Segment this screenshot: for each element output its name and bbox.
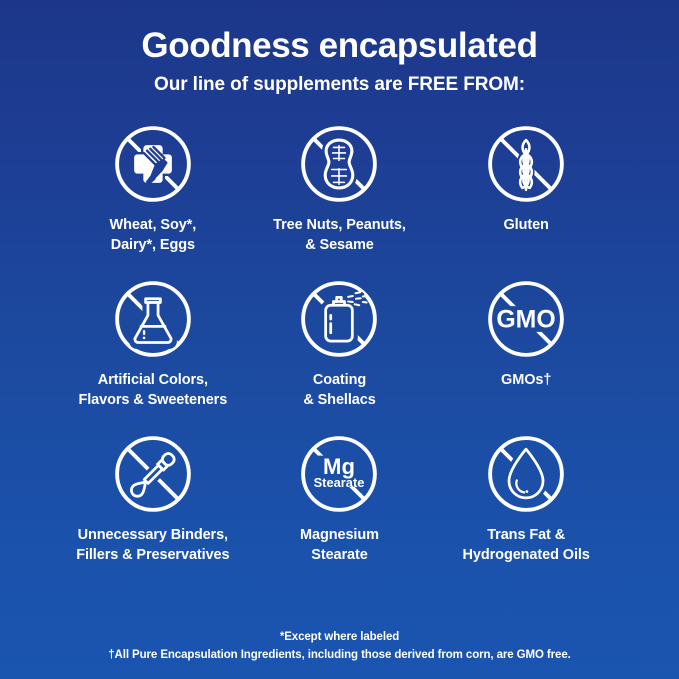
no-gmo-icon: GMO: [480, 273, 572, 365]
no-coating-shellacs-icon: [293, 273, 385, 365]
supplement-free-from-poster: Goodness encapsulated Our line of supple…: [0, 0, 679, 679]
footnotes: *Except where labeled †All Pure Encapsul…: [0, 629, 679, 665]
free-from-item-label: Trans Fat & Hydrogenated Oils: [463, 526, 590, 565]
no-tree-nuts-peanuts-sesame-icon: [293, 118, 385, 210]
free-from-item-tree-nuts-peanuts-sesame: Tree Nuts, Peanuts, & Sesame: [246, 118, 433, 273]
no-binders-fillers-preservatives-icon: [107, 428, 199, 520]
free-from-item-binders-fillers: Unnecessary Binders, Fillers & Preservat…: [60, 428, 247, 583]
free-from-item-label: Tree Nuts, Peanuts, & Sesame: [273, 216, 406, 255]
free-from-item-coating-shellacs: Coating & Shellacs: [246, 273, 433, 428]
free-from-item-label: Wheat, Soy*, Dairy*, Eggs: [110, 216, 197, 255]
footnote-gmo-free: †All Pure Encapsulation Ingredients, inc…: [0, 647, 679, 665]
free-from-item-gmos: GMO GMOs†: [433, 273, 620, 428]
free-from-item-label: Artificial Colors, Flavors & Sweeteners: [78, 371, 227, 410]
gmo-icon-text: GMO: [497, 306, 556, 333]
free-from-item-gluten: Gluten: [433, 118, 620, 273]
poster-header: Goodness encapsulated Our line of supple…: [0, 0, 679, 96]
no-wheat-soy-dairy-eggs-icon: [107, 118, 199, 210]
no-artificial-colors-icon: [107, 273, 199, 365]
page-title: Goodness encapsulated: [0, 26, 679, 65]
page-subtitle: Our line of supplements are FREE FROM:: [0, 74, 679, 96]
free-from-item-artificial-colors: Artificial Colors, Flavors & Sweeteners: [60, 273, 247, 428]
footnote-except-where-labeled: *Except where labeled: [0, 629, 679, 647]
free-from-item-label: GMOs†: [501, 371, 551, 391]
free-from-item-label: Unnecessary Binders, Fillers & Preservat…: [76, 526, 229, 565]
free-from-item-label: Magnesium Stearate: [300, 526, 379, 565]
free-from-item-label: Gluten: [504, 216, 549, 236]
stearate-icon-text: Stearate: [314, 475, 365, 490]
no-trans-fat-icon: [480, 428, 572, 520]
free-from-item-label: Coating & Shellacs: [303, 371, 375, 410]
no-magnesium-stearate-icon: Mg Stearate: [293, 428, 385, 520]
free-from-item-wheat-soy-dairy-eggs: Wheat, Soy*, Dairy*, Eggs: [60, 118, 247, 273]
free-from-item-magnesium-stearate: Mg Stearate Magnesium Stearate: [246, 428, 433, 583]
free-from-grid: Wheat, Soy*, Dairy*, Eggs: [60, 118, 620, 583]
free-from-item-trans-fat: Trans Fat & Hydrogenated Oils: [433, 428, 620, 583]
no-gluten-icon: [480, 118, 572, 210]
